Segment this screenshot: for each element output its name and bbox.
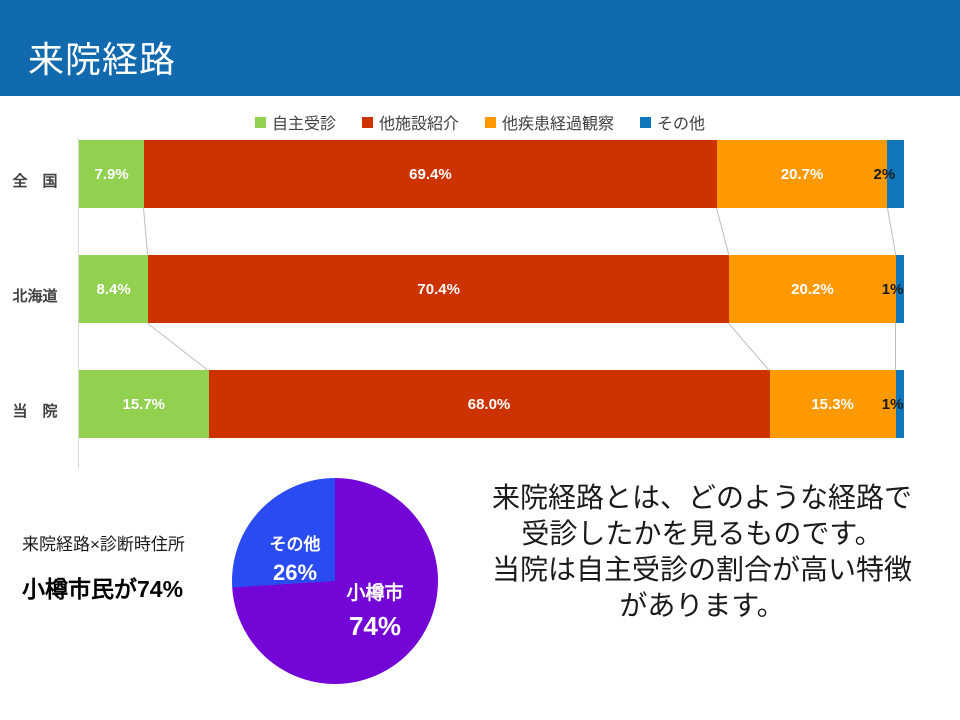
bar-segment-value-label: 15.3% (811, 396, 854, 413)
bar-segment-value-label: 69.4% (409, 166, 452, 183)
bar-segment-自主受診[interactable]: 15.7% (79, 370, 209, 438)
series-connector-line (887, 208, 896, 255)
pie-slice-label-other-value: 26% (260, 560, 330, 586)
pie-slice-label-other-name: その他 (260, 530, 330, 555)
bar-segment-value-label: 7.9% (94, 166, 128, 183)
pie-slice-label-main-value: 74% (336, 611, 414, 642)
description-line: 来院経路とは、どのような経路で (452, 480, 952, 516)
bar-segment-value-label: 2% (873, 166, 895, 183)
table-row[interactable]: 8.4%70.4%20.2%1% (79, 255, 904, 323)
pie-chart-highlight: 小樽市民が74% (22, 570, 183, 604)
bar-segment-他疾患経過観察[interactable]: 20.7% (717, 140, 888, 208)
legend-swatch-icon (640, 117, 651, 128)
slide-title-bar: 来院経路 (0, 0, 960, 96)
bar-segment-value-label: 68.0% (468, 396, 511, 413)
bar-segment-その他[interactable]: 2% (887, 140, 904, 208)
bar-segment-他疾患経過観察[interactable]: 15.3% (770, 370, 896, 438)
legend-swatch-icon (255, 117, 266, 128)
legend-item-2[interactable]: 他疾患経過観察 (485, 110, 614, 134)
description-text: 来院経路とは、どのような経路で 受診したかを見るものです。 当院は自主受診の割合… (452, 480, 952, 624)
bar-segment-value-label: 70.4% (417, 281, 460, 298)
description-line: 受診したかを見るものです。 (452, 516, 952, 552)
legend-item-label: その他 (657, 110, 705, 134)
stacked-bar-chart: 全 国 北海道 当 院 7.9%69.4%20.7%2% 8.4%70.4%20… (0, 134, 960, 470)
legend-item-1[interactable]: 他施設紹介 (362, 110, 459, 134)
legend-item-label: 自主受診 (272, 110, 336, 134)
bar-segment-value-label: 1% (882, 281, 904, 298)
bar-segment-自主受診[interactable]: 7.9% (79, 140, 144, 208)
table-row[interactable]: 7.9%69.4%20.7%2% (79, 140, 904, 208)
description-line: があります。 (452, 588, 952, 624)
bar-segment-value-label: 1% (882, 396, 904, 413)
pie-chart-graphic[interactable]: その他 26% 小樽市 74% (232, 478, 438, 684)
bar-segment-他疾患経過観察[interactable]: 20.2% (729, 255, 896, 323)
pie-slice-label-main-name: 小樽市 (336, 578, 414, 605)
bar-category-label: 北海道 (0, 285, 70, 306)
bar-category-label: 当 院 (0, 400, 70, 421)
legend-item-3[interactable]: その他 (640, 110, 705, 134)
series-connector-line (716, 208, 729, 255)
table-row[interactable]: 15.7%68.0%15.3%1% (79, 370, 904, 438)
pie-chart: その他 26% 小樽市 74% (232, 478, 438, 684)
series-connector-line (148, 323, 209, 371)
page-title: 来院経路 (28, 38, 176, 82)
bar-category-label: 全 国 (0, 170, 70, 191)
bar-segment-その他[interactable]: 1% (896, 255, 904, 323)
legend-item-0[interactable]: 自主受診 (255, 110, 336, 134)
bar-segment-value-label: 8.4% (97, 281, 131, 298)
legend-item-label: 他施設紹介 (379, 110, 459, 134)
bar-segment-value-label: 20.7% (781, 166, 824, 183)
bar-segment-value-label: 15.7% (122, 396, 165, 413)
series-connector-line (143, 208, 148, 255)
bar-segment-自主受診[interactable]: 8.4% (79, 255, 148, 323)
chart-legend: 自主受診 他施設紹介 他疾患経過観察 その他 (0, 110, 960, 134)
legend-swatch-icon (362, 117, 373, 128)
bar-segment-他施設紹介[interactable]: 70.4% (148, 255, 729, 323)
description-line: 当院は自主受診の割合が高い特徴 (452, 552, 952, 588)
series-connector-line (895, 323, 896, 370)
pie-chart-caption: 来院経路×診断時住所 (22, 530, 185, 555)
series-connector-line (728, 323, 769, 371)
bar-segment-その他[interactable]: 1% (896, 370, 904, 438)
legend-swatch-icon (485, 117, 496, 128)
legend-item-label: 他疾患経過観察 (502, 110, 614, 134)
bar-segment-value-label: 20.2% (791, 281, 834, 298)
bar-segment-他施設紹介[interactable]: 69.4% (144, 140, 717, 208)
bar-segment-他施設紹介[interactable]: 68.0% (209, 370, 770, 438)
